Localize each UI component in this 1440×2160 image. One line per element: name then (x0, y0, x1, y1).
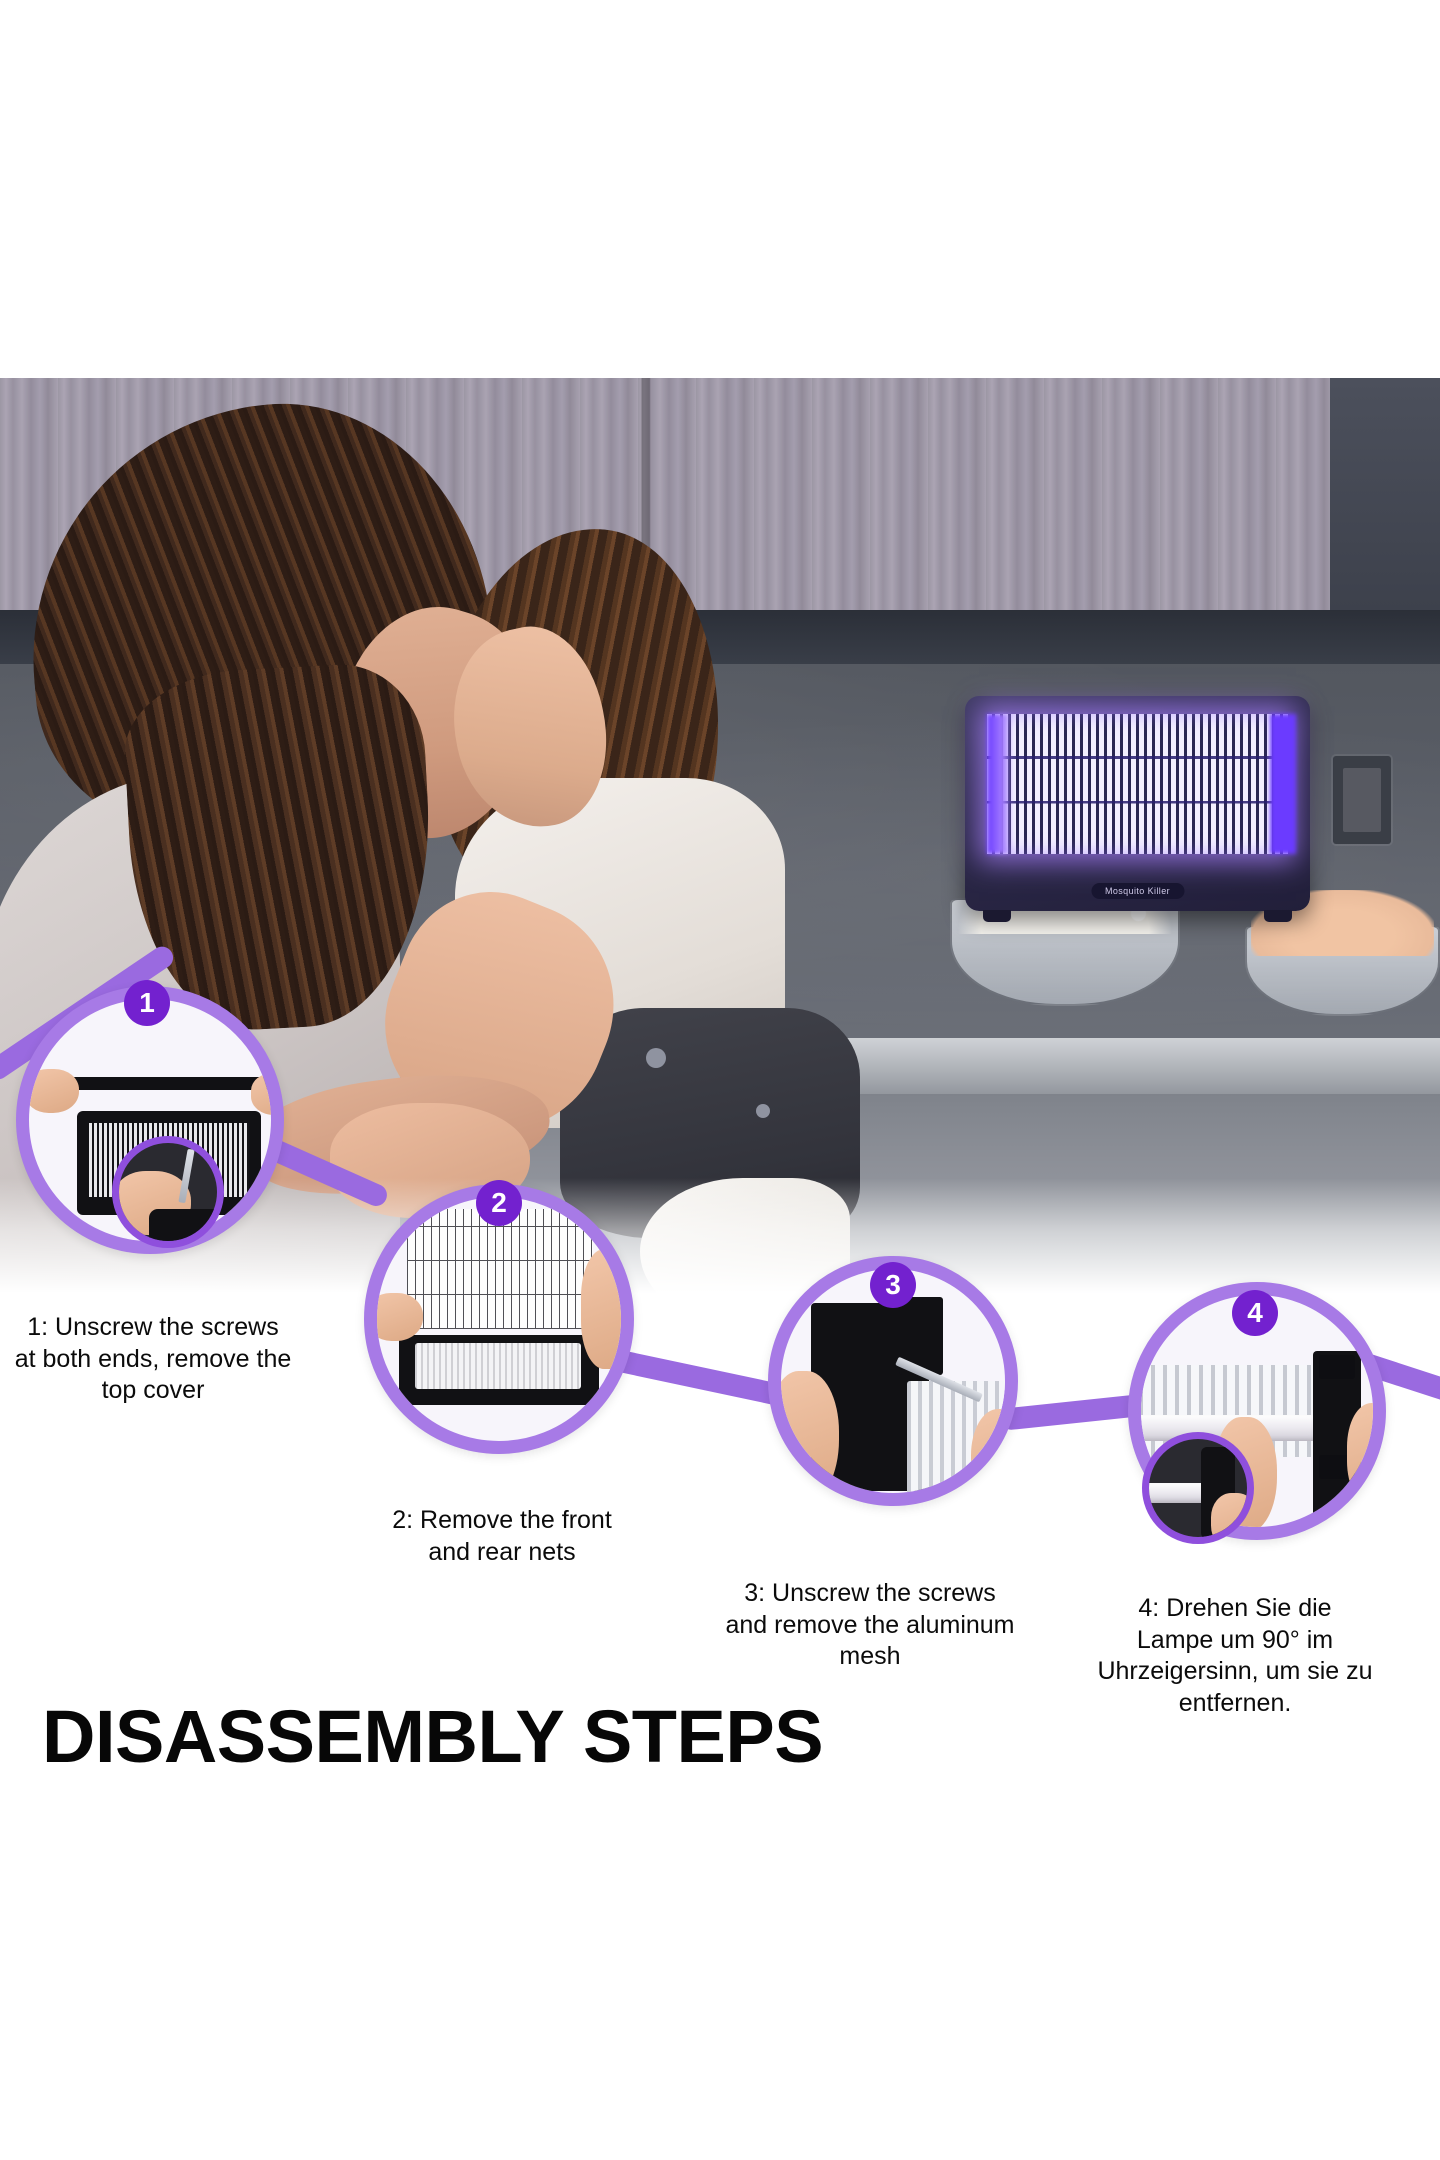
left-hand (367, 1293, 423, 1341)
step-1[interactable]: 1 (16, 986, 284, 1254)
wire-net (407, 1209, 593, 1329)
aluminum-mesh (415, 1343, 581, 1389)
bracket-endcap-top (1319, 1355, 1355, 1379)
mosquito-killer-device: Mosquito Killer (965, 696, 1310, 911)
step-3[interactable]: 3 (768, 1256, 1018, 1506)
dark-cabinet-panel (1330, 378, 1440, 610)
step-4-badge: 4 (1232, 1290, 1278, 1336)
right-hand (971, 1409, 1018, 1506)
uv-grid (987, 714, 1288, 854)
step-3-badge: 3 (870, 1262, 916, 1308)
inset-housing (149, 1209, 224, 1248)
screwdriver-icon (178, 1149, 194, 1203)
support-hand (1347, 1403, 1386, 1507)
top-cover-bar (57, 1077, 272, 1090)
step-1-badge: 1 (124, 980, 170, 1026)
page-title: DISASSEMBLY STEPS (42, 1694, 823, 1779)
wall-outlet-right (1333, 756, 1391, 844)
infographic-root: Mosquito Killer (0, 0, 1440, 2160)
step-2-caption: 2: Remove the front and rear nets (352, 1505, 652, 1568)
device-label: Mosquito Killer (1091, 883, 1184, 899)
step-2-badge: 2 (476, 1180, 522, 1226)
step-4-inset-lamp-detail (1142, 1432, 1254, 1544)
left-hand (25, 1069, 79, 1113)
step-4-caption: 4: Drehen Sie die Lampe um 90° im Uhrzei… (1075, 1593, 1395, 1719)
step-1-inset-screw-detail (112, 1136, 224, 1248)
left-hand (769, 1371, 839, 1503)
step-3-caption: 3: Unscrew the screws and remove the alu… (690, 1578, 1050, 1673)
step-4[interactable]: 4 (1128, 1282, 1386, 1540)
right-hand (251, 1073, 284, 1115)
step-1-caption: 1: Unscrew the screws at both ends, remo… (8, 1312, 298, 1407)
step-2[interactable]: 2 (364, 1184, 634, 1454)
right-hand (581, 1249, 634, 1369)
